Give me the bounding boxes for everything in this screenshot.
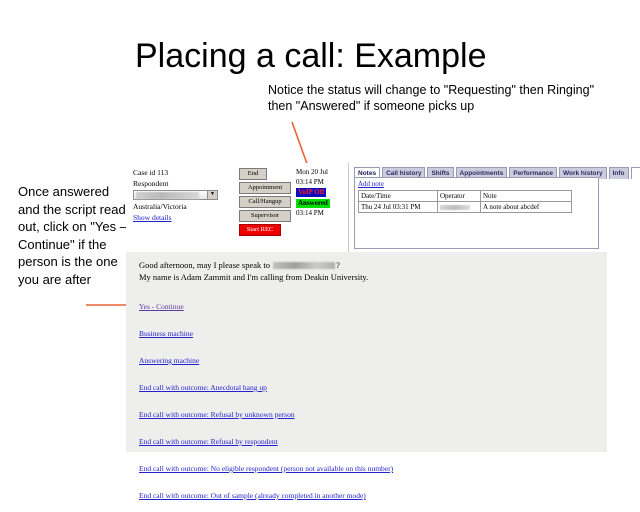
option-out-of-sample[interactable]: End call with outcome: Out of sample (al…	[139, 491, 366, 501]
list-item: End call with outcome: No eligible respo…	[139, 458, 589, 485]
list-item: End call with outcome: Anecdotal hang up	[139, 377, 589, 404]
script-line-2: My name is Adam Zammit and I'm calling f…	[139, 271, 368, 283]
redacted-person-name	[273, 262, 335, 269]
option-yes-continue[interactable]: Yes - Continue	[139, 302, 184, 312]
option-anecdotal-hang-up[interactable]: End call with outcome: Anecdotal hang up	[139, 383, 267, 393]
option-answering-machine[interactable]: Answering machine	[139, 356, 199, 366]
column-header-operator: Operator	[438, 191, 481, 202]
column-header-note: Note	[481, 191, 572, 202]
table-row: Thu 24 Jul 03:31 PM A note about abcdef	[359, 202, 572, 213]
timezone-label: Australia/Victoria	[133, 202, 231, 212]
option-refusal-respondent[interactable]: End call with outcome: Refusal by respon…	[139, 437, 278, 447]
option-business-machine[interactable]: Business machine	[139, 329, 193, 339]
list-item: Answering machine	[139, 350, 589, 377]
respondent-select[interactable]: ▼	[133, 190, 218, 200]
column-header-datetime: Date/Time	[359, 191, 438, 202]
call-state-badge: Answered	[296, 199, 330, 208]
respondent-label: Respondent	[133, 179, 231, 189]
redacted-respondent-name	[136, 192, 199, 199]
cell-note: A note about abcdef	[481, 202, 572, 213]
app-header-region: Case id 113 Respondent ▼ Australia/Victo…	[126, 163, 607, 252]
script-line-1: Good afternoon, may I please speak to ?	[139, 259, 368, 271]
chevron-down-icon[interactable]: ▼	[207, 191, 217, 199]
page-title: Placing a call: Example	[135, 36, 487, 76]
script-line-1-before: Good afternoon, may I please speak to	[139, 260, 272, 270]
tab-strip-filler	[631, 167, 640, 179]
start-recording-button[interactable]: Start REC	[239, 224, 281, 236]
list-item: End call with outcome: Refusal by respon…	[139, 431, 589, 458]
list-item: End call with outcome: Refusal by unknow…	[139, 404, 589, 431]
option-refusal-unknown-person[interactable]: End call with outcome: Refusal by unknow…	[139, 410, 295, 420]
status-time-answered: 03:14 PM	[296, 209, 346, 219]
show-details-link[interactable]: Show details	[133, 213, 172, 223]
script-region: Good afternoon, may I please speak to ? …	[126, 252, 607, 452]
cell-operator	[438, 202, 481, 213]
list-item: Business machine	[139, 323, 589, 350]
panel-divider	[348, 163, 349, 252]
supervisor-button[interactable]: Supervisor	[239, 210, 291, 222]
status-time-start: 03:14 PM	[296, 178, 346, 188]
status-date: Mon 20 Jul	[296, 168, 346, 178]
notes-table: Date/Time Operator Note Thu 24 Jul 03:31…	[358, 190, 572, 213]
call-hangup-button[interactable]: Call/Hangup	[239, 196, 291, 208]
list-item: End call with outcome: Out of sample (al…	[139, 485, 589, 512]
embedded-app-screenshot: Case id 113 Respondent ▼ Australia/Victo…	[126, 163, 607, 452]
notes-tab-panel: Add note Date/Time Operator Note Thu 24 …	[354, 177, 599, 249]
tab-info[interactable]: Info	[609, 167, 629, 179]
call-status-panel: Mon 20 Jul 03:14 PM VoIP Off Answered 03…	[296, 168, 346, 219]
list-item: Yes - Continue	[139, 296, 589, 323]
script-text: Good afternoon, may I please speak to ? …	[139, 259, 368, 283]
option-no-eligible-respondent[interactable]: End call with outcome: No eligible respo…	[139, 464, 393, 474]
end-button[interactable]: End	[239, 168, 267, 180]
cell-datetime: Thu 24 Jul 03:31 PM	[359, 202, 438, 213]
redacted-operator-name	[440, 205, 470, 210]
call-info-panel: Case id 113 Respondent ▼ Australia/Victo…	[133, 168, 231, 223]
voip-status-badge: VoIP Off	[296, 188, 326, 197]
callout-status-annotation: Notice the status will change to "Reques…	[268, 82, 598, 114]
appointment-button[interactable]: Appointment	[239, 182, 291, 194]
case-id-label: Case id 113	[133, 168, 231, 178]
callout-continue-annotation: Once answered and the script read out, c…	[18, 183, 130, 288]
script-line-1-after: ?	[336, 260, 340, 270]
table-header-row: Date/Time Operator Note	[359, 191, 572, 202]
add-note-link[interactable]: Add note	[358, 180, 384, 188]
slide-canvas: Placing a call: Example Notice the statu…	[0, 0, 640, 480]
call-controls: End Appointment Call/Hangup Supervisor S…	[239, 168, 291, 238]
